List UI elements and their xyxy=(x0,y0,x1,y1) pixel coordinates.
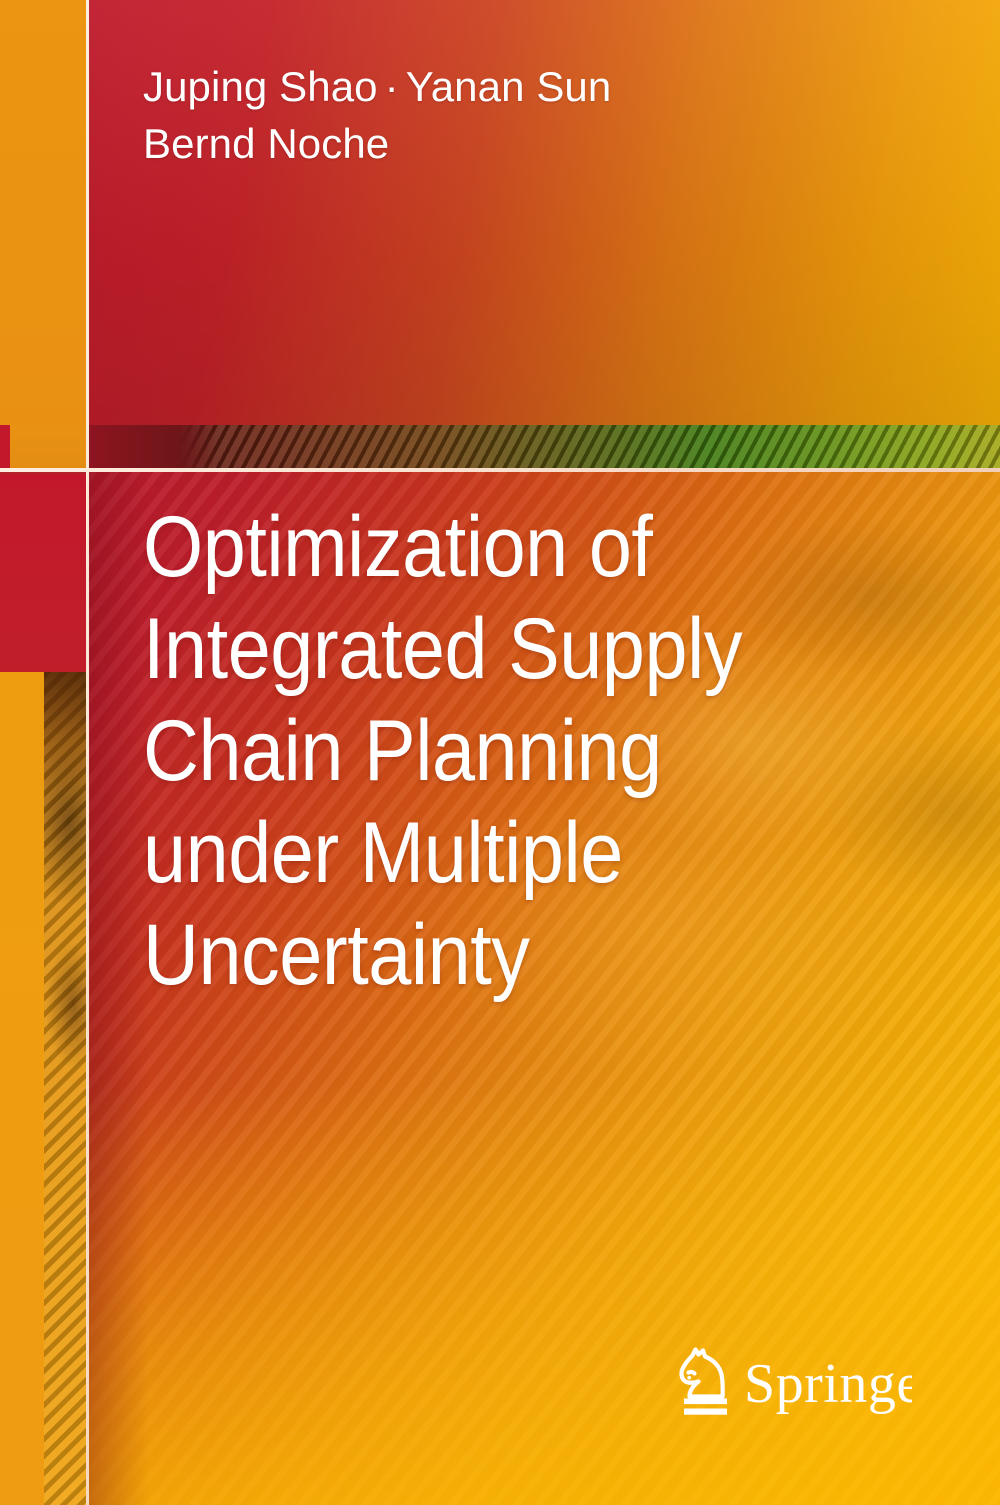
spine-orange-top-block xyxy=(0,0,86,468)
photo-texture-band xyxy=(89,425,1000,468)
publisher-logo: Springer xyxy=(662,1338,912,1424)
spine-orange-bottom-block xyxy=(0,672,44,1505)
author-line-2: Bernd Noche xyxy=(143,115,883,172)
publisher-name: Springer xyxy=(744,1353,912,1415)
title-line-4: under Multiple xyxy=(143,802,890,904)
title-line-5: Uncertainty xyxy=(143,904,890,1006)
book-cover: Juping Shao·Yanan Sun Bernd Noche Optimi… xyxy=(0,0,1000,1505)
title-line-1: Optimization of xyxy=(143,496,890,598)
author-name-2: Yanan Sun xyxy=(406,63,612,110)
spine-column xyxy=(0,0,86,1505)
photo-texture-band-left-shade xyxy=(89,425,219,468)
book-title: Optimization of Integrated Supply Chain … xyxy=(143,496,890,1006)
photo-band-spine-red-edge xyxy=(0,425,10,468)
photo-band-spine-segment xyxy=(0,425,89,468)
author-line-1: Juping Shao·Yanan Sun xyxy=(143,58,883,115)
title-panel-bottom-fade xyxy=(89,1085,1000,1505)
title-panel-left-shade xyxy=(89,472,149,1505)
springer-knight-icon xyxy=(682,1350,723,1397)
spine-red-block xyxy=(0,470,86,673)
author-separator: · xyxy=(378,63,406,110)
author-names: Juping Shao·Yanan Sun Bernd Noche xyxy=(143,58,883,172)
spine-photo-strip xyxy=(44,672,86,1505)
title-panel: Optimization of Integrated Supply Chain … xyxy=(89,472,1000,1505)
author-name-1: Juping Shao xyxy=(143,63,378,110)
spine-photo-shadow xyxy=(44,672,86,792)
title-line-2: Integrated Supply xyxy=(143,598,890,700)
title-line-3: Chain Planning xyxy=(143,700,890,802)
springer-logo-bottom-bar xyxy=(684,1409,727,1415)
springer-logo-base-bar xyxy=(684,1399,727,1405)
